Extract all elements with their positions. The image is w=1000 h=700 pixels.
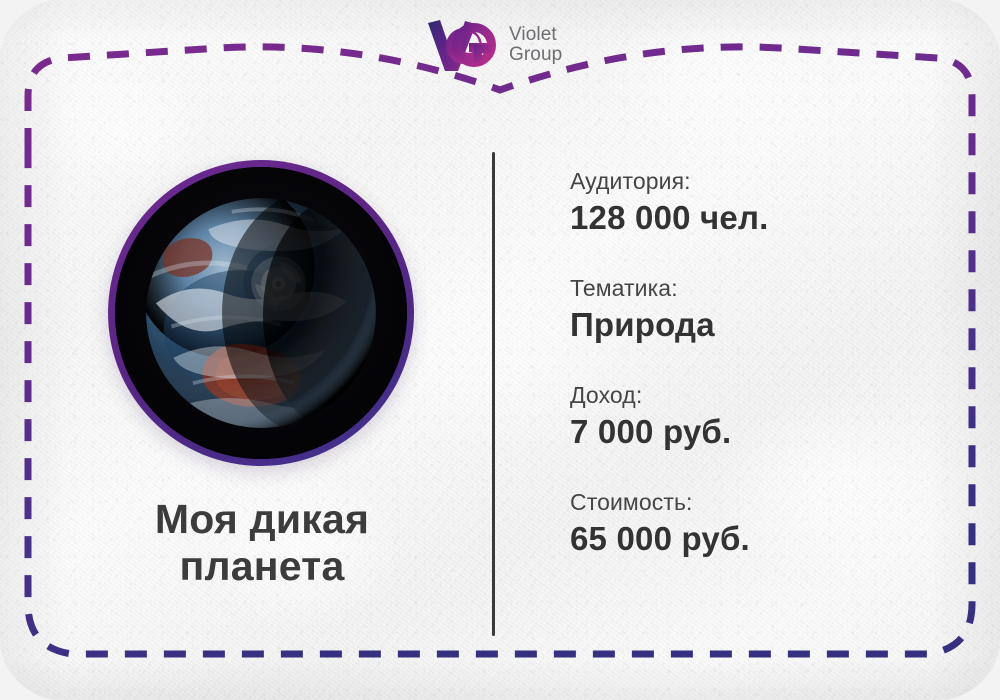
channel-avatar-ring bbox=[108, 160, 414, 466]
stat-price: Стоимость: 65 000 руб. bbox=[570, 489, 950, 558]
stat-income: Доход: 7 000 руб. bbox=[570, 382, 950, 451]
channel-title-line-2: планета bbox=[62, 543, 462, 590]
stat-topic-label: Тематика: bbox=[570, 275, 950, 302]
stat-audience-label: Аудитория: bbox=[570, 168, 950, 195]
stat-income-label: Доход: bbox=[570, 382, 950, 409]
stat-income-value: 7 000 руб. bbox=[570, 413, 950, 451]
stat-audience-value: 128 000 чел. bbox=[570, 199, 950, 237]
earth-planet-avatar bbox=[115, 167, 407, 459]
vg-monogram-icon bbox=[425, 16, 499, 74]
stats-list: Аудитория: 128 000 чел. Тематика: Природ… bbox=[570, 168, 950, 558]
brand-logo: Violet Group bbox=[425, 14, 595, 76]
brand-name-line-1: Violet bbox=[509, 25, 562, 45]
brand-wordmark: Violet Group bbox=[509, 25, 562, 65]
card-canvas: Violet Group bbox=[0, 0, 1000, 700]
brand-name-line-2: Group bbox=[509, 45, 562, 65]
avatar bbox=[115, 167, 407, 459]
stat-price-label: Стоимость: bbox=[570, 489, 950, 516]
stat-topic-value: Природа bbox=[570, 306, 950, 344]
vertical-divider bbox=[492, 152, 495, 636]
stat-price-value: 65 000 руб. bbox=[570, 520, 950, 558]
channel-title-line-1: Моя дикая bbox=[62, 496, 462, 543]
page-title: Моя дикая планета bbox=[62, 496, 462, 589]
stat-audience: Аудитория: 128 000 чел. bbox=[570, 168, 950, 237]
stat-topic: Тематика: Природа bbox=[570, 275, 950, 344]
